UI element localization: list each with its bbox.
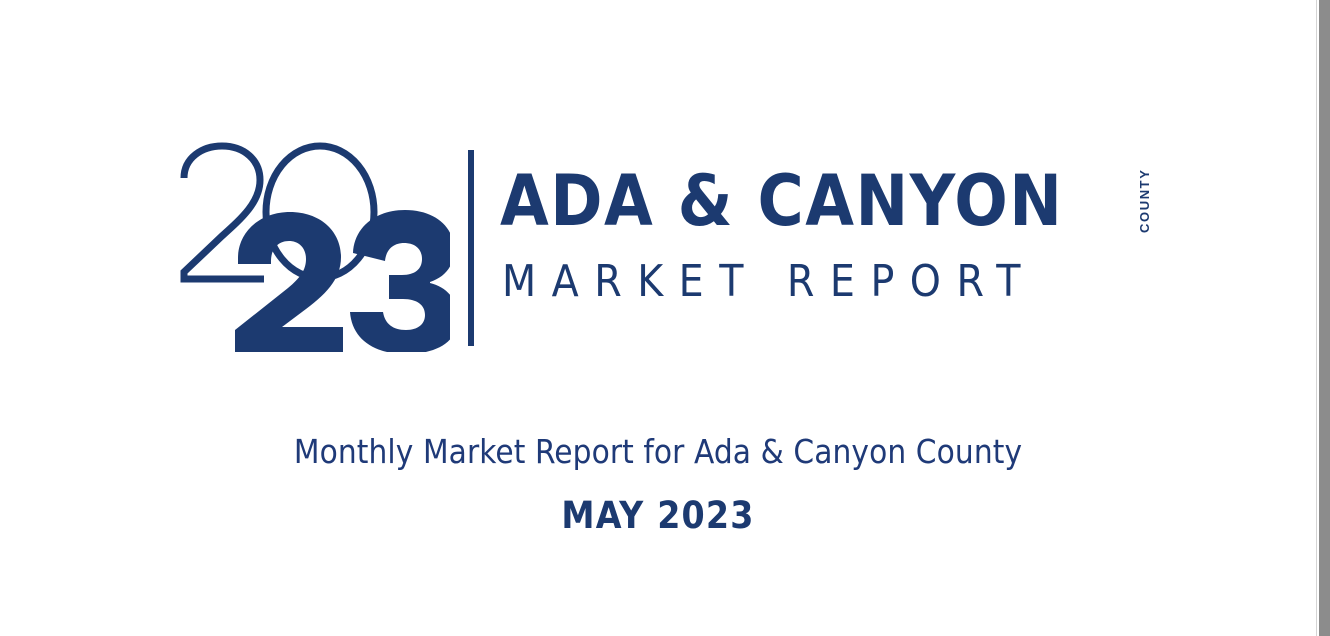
scrollbar-thumb[interactable] (1319, 0, 1330, 636)
page-subtitle: Monthly Market Report for Ada & Canyon C… (0, 432, 1316, 471)
wordmark-market-report: MARKET REPORT (502, 260, 1036, 304)
brand-wordmark: ADA & CANYON COUNTY MARKET REPORT (500, 140, 1170, 352)
logo-divider-rule (468, 150, 474, 346)
year-outline-20 (184, 146, 374, 279)
wordmark-ada-canyon: ADA & CANYON (500, 166, 1064, 236)
report-date: MAY 2023 (0, 494, 1316, 537)
wordmark-county-vertical-label: COUNTY (1137, 166, 1152, 236)
vertical-scrollbar[interactable] (1316, 0, 1330, 636)
year-solid-23 (235, 210, 450, 352)
report-cover-page: ADA & CANYON COUNTY MARKET REPORT Monthl… (0, 0, 1316, 636)
brand-logo-lockup: ADA & CANYON COUNTY MARKET REPORT (178, 140, 1168, 355)
year-2023-logo-mark (178, 140, 450, 352)
